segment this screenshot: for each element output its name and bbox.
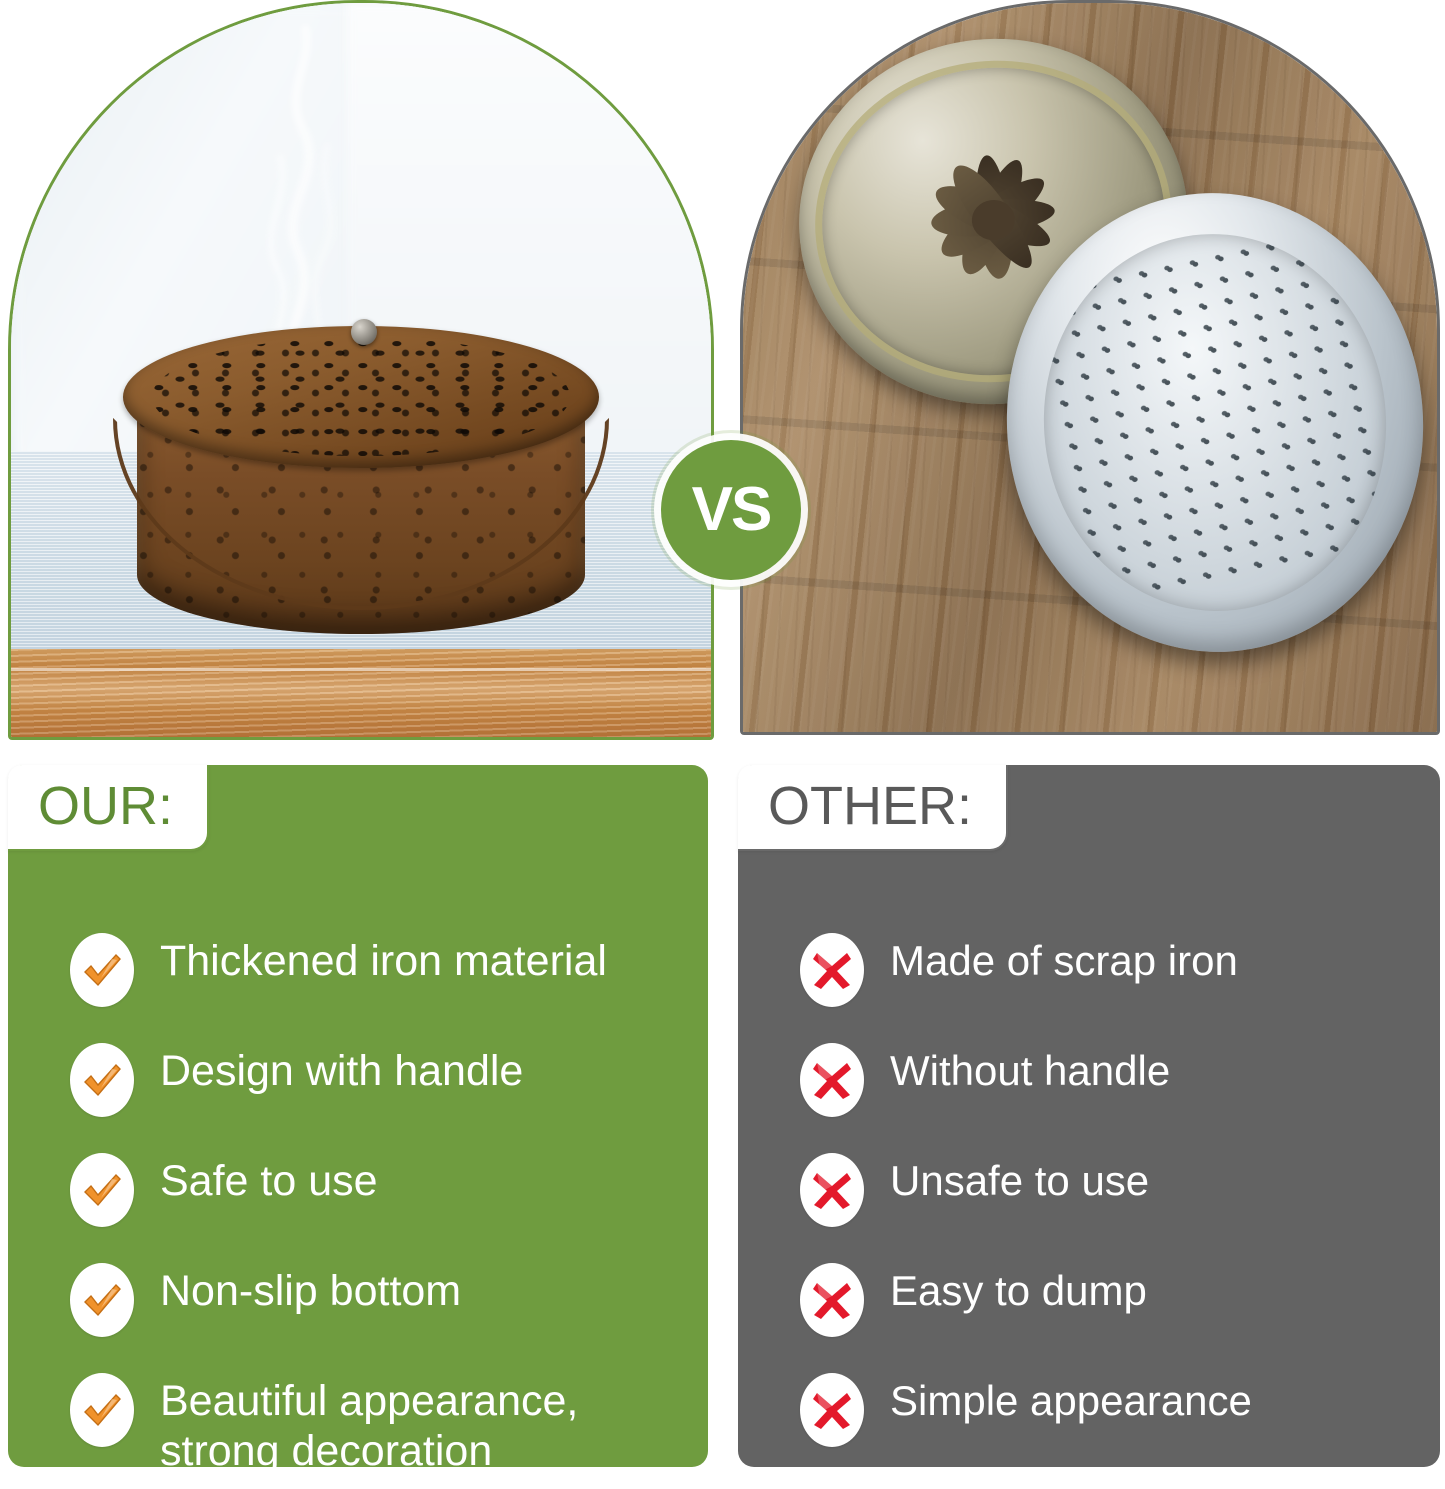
list-item-label: Design with handle [160,1041,523,1097]
other-card-badge: OTHER: [738,765,1008,851]
list-item: Without handle [800,1041,1416,1117]
our-card-badge: OUR: [8,765,209,851]
comparison-infographic: VS OUR: Thickened iron materia [0,0,1445,1489]
vs-badge: VS [661,440,801,580]
vs-label: VS [692,479,771,541]
list-item: Beautiful appearance, strong decoration [70,1371,684,1477]
burner-lid [123,326,599,468]
list-item: Design with handle [70,1041,684,1117]
other-card: OTHER: Made of scrap iron [738,765,1440,1467]
burner-knob [351,319,377,345]
our-feature-list: Thickened iron material Design with hand… [8,915,708,1459]
other-badge-label: OTHER: [768,779,972,833]
tray-spikes [1034,229,1397,616]
other-product-photo [740,0,1440,735]
check-icon [70,1373,134,1447]
list-item-label: Simple appearance [890,1371,1252,1426]
list-item: Safe to use [70,1151,684,1227]
list-item-label: Unsafe to use [890,1151,1149,1206]
other-feature-list: Made of scrap iron Without handle [738,915,1440,1459]
other-photo-scene [743,3,1437,732]
photo-row: VS [0,0,1445,745]
list-item: Made of scrap iron [800,931,1416,1007]
our-card: OUR: Thickened iron material [8,765,708,1467]
cross-icon [800,1263,864,1337]
check-icon [70,1263,134,1337]
list-item: Non-slip bottom [70,1261,684,1337]
list-item-label: Beautiful appearance, strong decoration [160,1371,578,1477]
tray-inner [1031,222,1398,622]
our-badge-label: OUR: [38,779,173,833]
list-item: Thickened iron material [70,931,684,1007]
cross-icon [800,1043,864,1117]
list-item: Easy to dump [800,1261,1416,1337]
list-item-label: Safe to use [160,1151,378,1207]
wood-table-edge [11,649,711,737]
check-icon [70,1043,134,1117]
cross-icon [800,933,864,1007]
check-icon [70,1153,134,1227]
list-item-label: Thickened iron material [160,931,607,987]
list-item-label: Made of scrap iron [890,931,1238,986]
list-item: Unsafe to use [800,1151,1416,1227]
list-item-label: Non-slip bottom [160,1261,461,1317]
our-product-photo [8,0,714,740]
cross-icon [800,1153,864,1227]
list-item-label: Without handle [890,1041,1170,1096]
check-icon [70,933,134,1007]
cross-icon [800,1373,864,1447]
our-photo-scene [11,3,711,737]
list-item: Simple appearance [800,1371,1416,1447]
list-item-label: Easy to dump [890,1261,1147,1316]
comparison-cards-row: OUR: Thickened iron material [0,765,1445,1477]
incense-burner [123,326,599,634]
